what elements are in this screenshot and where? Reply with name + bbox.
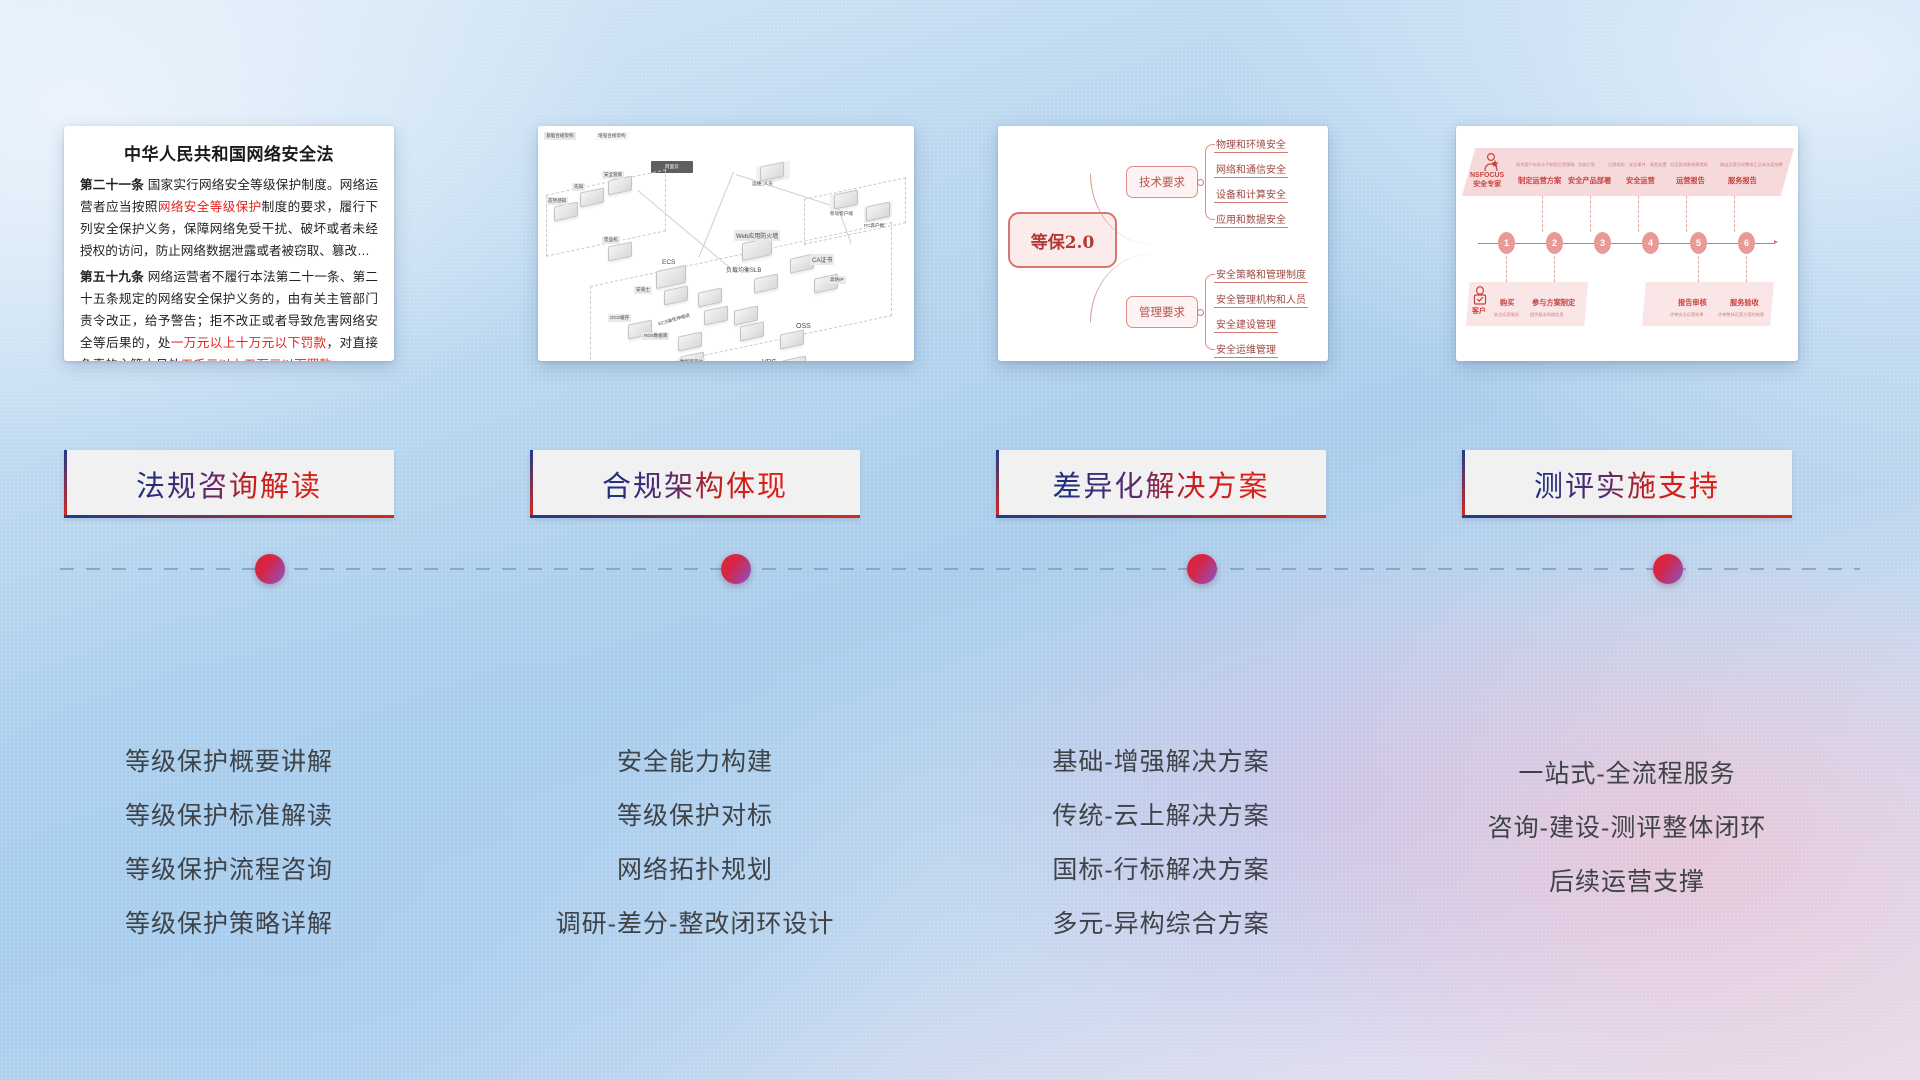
arch-label-situational: 态势感知 [546, 197, 568, 205]
arch-link-3 [699, 172, 734, 258]
nsfocus-bottom-head-4: 服务验收 [1730, 298, 1759, 308]
nsfocus-top-sub-2: 实施方案 [1578, 162, 1595, 168]
arch-label-xianzhi: 先知 [572, 183, 585, 191]
arch-label-rds: RDS数据库 [642, 332, 669, 340]
stage-label-1[interactable]: 法规咨询解读 [64, 450, 394, 518]
nsfocus-diagram: NSFOCUS安全专家 制定运营方案 结合客户实际水平制定运营策略 安全产品部署… [1456, 126, 1798, 361]
mindmap-leaf-m3: 安全建设管理 [1214, 316, 1278, 333]
nsfocus-top-sub-3: 日常巡检、安全事件、高危处置 [1608, 162, 1667, 168]
nsfocus-bottom-sub-3: 评审安全运营效果 [1670, 312, 1704, 318]
nsfocus-step-3: 3 [1594, 232, 1611, 254]
nsfocus-customer-label: 客户 [1472, 308, 1486, 317]
column-3-item-4: 多元-异构综合方案 [996, 904, 1326, 940]
nsfocus-dash-9 [1746, 256, 1747, 282]
mindmap-dot-tech [1197, 179, 1204, 186]
nsfocus-expert-label: NSFOCUS安全专家 [1470, 172, 1504, 190]
nsfocus-step-5: 5 [1690, 232, 1707, 254]
arch-node-bastion [608, 241, 632, 261]
nsfocus-card[interactable]: NSFOCUS安全专家 制定运营方案 结合客户实际水平制定运营策略 安全产品部署… [1456, 126, 1798, 361]
timeline-dot-1[interactable] [255, 554, 285, 584]
law-paragraph-2: 第五十九条 网络运营者不履行本法第二十一条、第二十五条规定的网络安全保护义务的，… [80, 266, 378, 361]
mindmap-leaf-t1: 物理和环境安全 [1214, 136, 1288, 153]
column-2-item-3: 网络拓扑规划 [530, 850, 860, 886]
nsfocus-top-sub-5: 输出运营活动整体汇总本年度效果 [1720, 162, 1783, 168]
nsfocus-dash-1 [1542, 196, 1543, 232]
nsfocus-dash-5 [1734, 196, 1735, 232]
mindmap-leaf-t2: 网络和通信安全 [1214, 161, 1288, 178]
nsfocus-top-head-2: 安全产品部署 [1568, 176, 1611, 186]
nsfocus-top-head-5: 服务报告 [1728, 176, 1757, 186]
timeline [60, 568, 1860, 570]
arch-label-mobile: 移动客户端 [828, 210, 855, 218]
arch-label-ecs: ECS [660, 258, 677, 267]
stage-label-2-text: 合规架构体现 [602, 463, 788, 505]
mindmap-hook-mgmt [1205, 274, 1215, 350]
nsfocus-bottom-sub-4: 评审整体运营方案的效果 [1718, 312, 1764, 318]
architecture-diagram: 基础合规架构 增强合规架构 阿里云 态势感知 先知 安全管家 [538, 126, 914, 361]
mindmap-leaf-t4: 应用和数据安全 [1214, 211, 1288, 228]
arch-label-antiddos: 高防IP [828, 276, 846, 284]
nsfocus-dash-4 [1686, 196, 1687, 232]
arch-label-dbaudit: 数据库审计 [678, 358, 705, 361]
law-run-1b: 网络安全等级保护 [158, 200, 262, 214]
column-2-item-4: 调研-差分-整改闭环设计 [530, 904, 860, 940]
nsfocus-step-2: 2 [1546, 232, 1563, 254]
arch-label-ca: CA证书 [810, 254, 834, 265]
nsfocus-axis-arrow-icon [1774, 240, 1778, 244]
stage-label-4-text: 测评实施支持 [1534, 463, 1720, 505]
law-article-1: 第二十一条 [80, 178, 144, 192]
column-3-item-3: 国标-行标解决方案 [996, 850, 1326, 886]
timeline-dot-4[interactable] [1653, 554, 1683, 584]
arch-label-vpc: VPC [760, 358, 778, 361]
nsfocus-bottom-head-3: 报告审核 [1678, 298, 1707, 308]
nsfocus-top-head-4: 运营报告 [1676, 176, 1705, 186]
arch-tab-enhanced: 增强合规架构 [596, 132, 628, 140]
nsfocus-bottom-sub-2: 提供基本网络信息 [1530, 312, 1564, 318]
nsfocus-top-sub-4: 对运营成果效果提炼 [1670, 162, 1708, 168]
mindmap-core: 等保2.0 [1008, 212, 1117, 268]
arch-label-anqishi: 安骑士 [634, 286, 652, 294]
timeline-dot-2[interactable] [721, 554, 751, 584]
arch-tab-basic: 基础合规架构 [544, 132, 576, 140]
mindmap-card[interactable]: 等保2.0 技术要求 管理要求 物理和环境安全 网络和通信安全 设备和计算安全 … [998, 126, 1328, 361]
arch-label-pc: PC客户端 [862, 222, 886, 230]
nsfocus-dash-7 [1554, 256, 1555, 282]
column-1-item-1: 等级保护概要讲解 [64, 742, 394, 778]
arch-label-slb: 负载均衡SLB [724, 264, 763, 275]
nsfocus-bottom-head-1: 购买 [1500, 298, 1514, 308]
nsfocus-step-4: 4 [1642, 232, 1659, 254]
law-article-2: 第五十九条 [80, 270, 144, 284]
nsfocus-step-1: 1 [1498, 232, 1515, 254]
mindmap-dot-mgmt [1197, 309, 1204, 316]
architecture-card[interactable]: 基础合规架构 增强合规架构 阿里云 态势感知 先知 安全管家 [538, 126, 914, 361]
column-3-item-2: 传统-云上解决方案 [996, 796, 1326, 832]
mindmap-leaf-m4: 安全运维管理 [1214, 341, 1278, 358]
arch-node-vpc [782, 355, 806, 361]
customer-person-icon [1472, 286, 1488, 306]
nsfocus-dash-8 [1698, 256, 1699, 282]
column-4: 一站式-全流程服务 咨询-建设-测评整体闭环 后续运营支撑 [1462, 754, 1792, 916]
arch-label-bastion: 堡垒机 [602, 236, 620, 244]
law-card[interactable]: 中华人民共和国网络安全法 第二十一条 国家实行网络安全等级保护制度。网络运营者应… [64, 126, 394, 361]
stage-label-4[interactable]: 测评实施支持 [1462, 450, 1792, 518]
nsfocus-top-band [1462, 148, 1794, 196]
expert-person-icon [1482, 152, 1500, 172]
column-2-item-1: 安全能力构建 [530, 742, 860, 778]
column-3: 基础-增强解决方案 传统-云上解决方案 国标-行标解决方案 多元-异构综合方案 [996, 742, 1326, 958]
column-1-item-2: 等级保护标准解读 [64, 796, 394, 832]
nsfocus-bottom-head-2: 参与方案制定 [1532, 298, 1575, 308]
timeline-dashed-line [60, 568, 1860, 570]
stage-label-1-text: 法规咨询解读 [136, 463, 322, 505]
slide-stage: 中华人民共和国网络安全法 第二十一条 国家实行网络安全等级保护制度。网络运营者应… [0, 0, 1920, 1080]
column-2-item-2: 等级保护对标 [530, 796, 860, 832]
arch-label-butler: 安全管家 [602, 171, 624, 179]
law-run-2d: 五千元以上五万元以下罚款。 [181, 358, 345, 361]
mindmap-leaf-m1: 安全策略和管理制度 [1214, 266, 1308, 283]
law-card-body: 中华人民共和国网络安全法 第二十一条 国家实行网络安全等级保护制度。网络运营者应… [64, 126, 394, 361]
mindmap-branch-tech: 技术要求 [1126, 166, 1198, 198]
column-1-item-4: 等级保护策略详解 [64, 904, 394, 940]
stage-label-3-text: 差异化解决方案 [1052, 463, 1269, 505]
nsfocus-step-6: 6 [1738, 232, 1755, 254]
nsfocus-dash-6 [1506, 256, 1507, 282]
mindmap-leaf-t3: 设备和计算安全 [1214, 186, 1288, 203]
nsfocus-top-head-3: 安全运营 [1626, 176, 1655, 186]
column-3-item-1: 基础-增强解决方案 [996, 742, 1326, 778]
stage-label-3[interactable]: 差异化解决方案 [996, 450, 1326, 518]
column-4-item-3: 后续运营支撑 [1462, 862, 1792, 898]
arch-label-ocs: OCS缓存 [608, 314, 631, 322]
column-4-item-1: 一站式-全流程服务 [1462, 754, 1792, 790]
nsfocus-bottom-sub-1: 安全运营服务 [1494, 312, 1519, 318]
mindmap-hook-tech [1205, 144, 1215, 220]
nsfocus-axis [1478, 243, 1774, 244]
mindmap-diagram: 等保2.0 技术要求 管理要求 物理和环境安全 网络和通信安全 设备和计算安全 … [998, 126, 1328, 361]
nsfocus-dash-2 [1590, 196, 1591, 232]
arch-label-waf: Web应用防火墙 [734, 230, 780, 241]
nsfocus-top-head-1: 制定运营方案 [1518, 176, 1561, 186]
column-2: 安全能力构建 等级保护对标 网络拓扑规划 调研-差分-整改闭环设计 [530, 742, 860, 958]
column-1: 等级保护概要讲解 等级保护标准解读 等级保护流程咨询 等级保护策略详解 [64, 742, 394, 958]
stage-label-2[interactable]: 合规架构体现 [530, 450, 860, 518]
law-paragraph-1: 第二十一条 国家实行网络安全等级保护制度。网络运营者应当按照网络安全等级保护制度… [80, 174, 378, 262]
timeline-dot-3[interactable] [1187, 554, 1217, 584]
law-title: 中华人民共和国网络安全法 [80, 140, 378, 165]
arch-label-oss: OSS [794, 322, 813, 331]
nsfocus-top-sub-1: 结合客户实际水平制定运营策略 [1516, 162, 1575, 168]
law-run-2b: 一万元以上十万元以下罚款 [171, 336, 327, 350]
nsfocus-dash-3 [1638, 196, 1639, 232]
column-1-item-3: 等级保护流程咨询 [64, 850, 394, 886]
column-4-item-2: 咨询-建设-测评整体闭环 [1462, 808, 1792, 844]
mindmap-branch-mgmt: 管理要求 [1126, 296, 1198, 328]
arch-label-ops: 运维_人员 [750, 180, 775, 188]
mindmap-leaf-m2: 安全管理机构和人员 [1214, 291, 1308, 308]
